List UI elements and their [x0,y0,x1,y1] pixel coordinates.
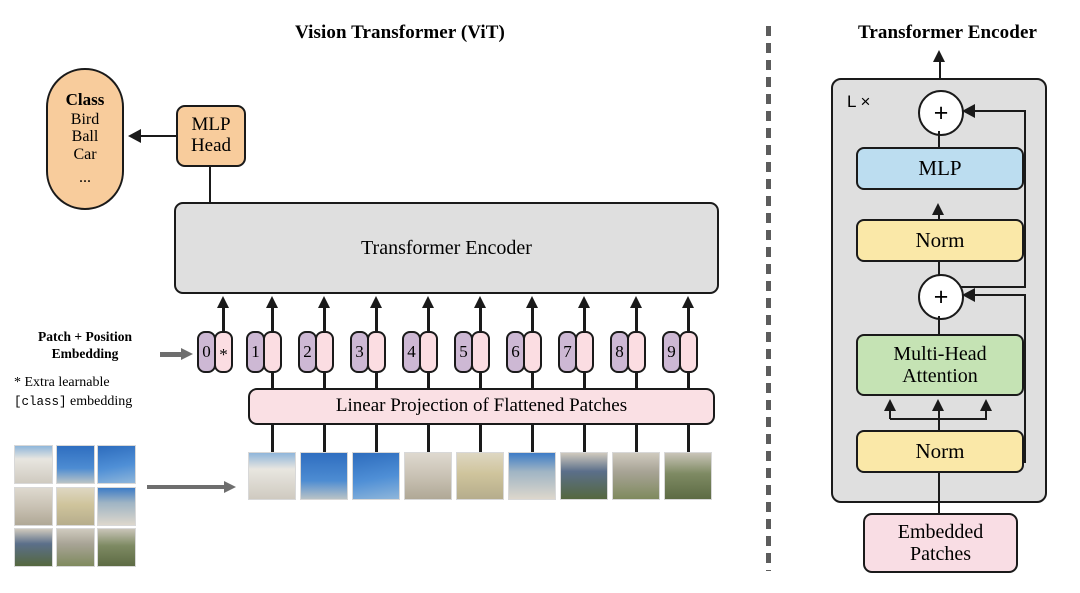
token-to-encoder-line-3 [375,307,377,333]
footnote-line1: * Extra learnable [14,374,174,393]
flattened-patch-2 [300,452,348,500]
top-skip-arrowhead [962,104,975,118]
right-panel-title: Transformer Encoder [820,22,1075,44]
token-to-encoder-line-2 [323,307,325,333]
projection-to-patch-line-7 [583,425,585,452]
source-grid-patch-7 [14,528,53,567]
token-to-encoder-arrowhead-8 [630,296,642,308]
residual-add-top: + [918,90,964,136]
embedding-label-arrow-line [160,352,182,357]
mlp-to-add-line [938,131,940,148]
flattened-patch-8 [612,452,660,500]
projection-to-patch-line-2 [323,425,325,452]
token-to-encoder-line-7 [583,307,585,333]
source-grid-patch-4 [14,487,53,526]
token-to-encoder-line-5 [479,307,481,333]
grid-to-strip-arrowhead [224,481,236,493]
token-embedding-9 [679,331,698,373]
token-embedding-3 [367,331,386,373]
norm-top-box: Norm [856,219,1024,262]
class-box: Class Bird Ball Car ... [46,68,124,210]
projection-to-patch-line-8 [635,425,637,452]
token-embedding-4 [419,331,438,373]
embedding-label-arrowhead [181,348,193,360]
source-grid-patch-2 [56,445,95,484]
norm-top-label: Norm [916,229,965,252]
qkv-right-arrowhead [980,399,992,411]
norm-top-to-mlp-arrowhead [932,203,944,215]
mlp-box: MLP [856,147,1024,190]
token-to-encoder-arrowhead-0 [217,296,229,308]
token-to-projection-line-6 [531,373,533,388]
token-to-encoder-line-1 [271,307,273,333]
token-to-encoder-arrowhead-9 [682,296,694,308]
flattened-patch-1 [248,452,296,500]
source-image-grid [14,445,138,569]
class-box-heading: Class [66,91,105,110]
flattened-patch-7 [560,452,608,500]
transformer-encoder-label: Transformer Encoder [361,237,532,259]
patch-position-embedding-label: Patch + Position Embedding [10,329,160,363]
extra-learnable-footnote: * Extra learnable [class] embedding [14,374,174,412]
panel-divider [766,26,771,571]
token-to-encoder-arrowhead-1 [266,296,278,308]
embedding-label-line1: Patch + Position [10,329,160,346]
token-to-encoder-arrowhead-3 [370,296,382,308]
token-embedding-7 [575,331,594,373]
multi-head-attention-box: Multi-Head Attention [856,334,1024,396]
qkv-left-arrowhead [884,399,896,411]
mlp-head-box: MLP Head [176,105,246,167]
embedding-label-line2: Embedding [10,346,160,363]
source-grid-patch-6 [97,487,136,526]
grid-to-strip-line [147,485,225,489]
flattened-patch-6 [508,452,556,500]
token-to-encoder-line-4 [427,307,429,333]
source-grid-patch-8 [56,528,95,567]
linear-projection-label: Linear Projection of Flattened Patches [336,396,627,417]
embedded-patches-line1: Embedded [898,521,984,543]
residual-add-middle-symbol: + [934,285,949,310]
flattened-patch-9 [664,452,712,500]
encoder-output-arrowhead [933,50,945,62]
middle-skip-horizontal [973,294,1026,296]
flattened-patch-3 [352,452,400,500]
token-to-projection-line-2 [323,373,325,388]
token-to-encoder-line-6 [531,307,533,333]
attention-to-add-line [938,316,940,335]
token-embedding-0: * [214,331,233,373]
projection-to-patch-line-6 [531,425,533,452]
embedded-patches-line2: Patches [910,543,971,565]
left-panel-title: Vision Transformer (ViT) [190,22,610,44]
repeat-count-label: L × [847,92,870,112]
token-to-projection-line-9 [687,373,689,388]
mlp-head-to-class-arrowhead [128,129,141,143]
token-to-encoder-line-8 [635,307,637,333]
source-grid-patch-3 [97,445,136,484]
class-box-ellipsis: ... [79,169,91,187]
class-box-item-car: Car [73,146,96,164]
flattened-patch-4 [404,452,452,500]
residual-add-top-symbol: + [934,101,949,126]
projection-to-patch-line-4 [427,425,429,452]
norm-bottom-label: Norm [916,440,965,463]
mlp-box-label: MLP [918,157,961,180]
attention-label-line1: Multi-Head [893,343,986,365]
embedded-to-norm-line [938,473,940,515]
source-grid-patch-1 [14,445,53,484]
top-skip-horizontal [973,110,1026,112]
linear-projection-bar: Linear Projection of Flattened Patches [248,388,715,425]
token-to-projection-line-1 [271,373,273,388]
projection-to-patch-line-5 [479,425,481,452]
token-to-encoder-line-0 [222,307,224,333]
token-to-encoder-arrowhead-5 [474,296,486,308]
token-embedding-6 [523,331,542,373]
token-to-encoder-arrowhead-2 [318,296,330,308]
projection-to-patch-line-3 [375,425,377,452]
token-to-encoder-arrowhead-6 [526,296,538,308]
residual-add-middle: + [918,274,964,320]
footnote-line2: [class] embedding [14,393,174,412]
token-to-encoder-arrowhead-4 [422,296,434,308]
middle-skip-arrowhead [962,288,975,302]
mlp-head-label-line2: Head [191,136,231,157]
middle-skip-vertical [1024,295,1026,463]
token-embedding-5 [471,331,490,373]
norm-bottom-box: Norm [856,430,1024,473]
source-grid-patch-5 [56,487,95,526]
token-to-projection-line-8 [635,373,637,388]
footnote-class-token: [class] [14,395,67,409]
transformer-encoder-box: Transformer Encoder [174,202,719,294]
token-embedding-1 [263,331,282,373]
source-grid-patch-9 [97,528,136,567]
projection-to-patch-line-1 [271,425,273,452]
token-to-encoder-arrowhead-7 [578,296,590,308]
flattened-patch-5 [456,452,504,500]
footnote-line2-rest: embedding [67,394,133,409]
top-skip-vertical [1024,111,1026,288]
token-to-projection-line-7 [583,373,585,388]
attention-label-line2: Attention [902,365,978,387]
token-to-encoder-line-9 [687,307,689,333]
token-embedding-8 [627,331,646,373]
mlp-head-to-class-line [139,135,177,137]
qkv-center-arrowhead [932,399,944,411]
projection-to-patch-line-9 [687,425,689,452]
class-box-item-bird: Bird [71,111,99,129]
embedded-patches-box: Embedded Patches [863,513,1018,573]
mlp-head-to-encoder-line [209,167,211,203]
token-to-projection-line-3 [375,373,377,388]
token-embedding-2 [315,331,334,373]
token-to-projection-line-4 [427,373,429,388]
token-to-projection-line-5 [479,373,481,388]
class-box-item-ball: Ball [72,128,99,146]
mlp-head-label-line1: MLP [191,115,230,136]
